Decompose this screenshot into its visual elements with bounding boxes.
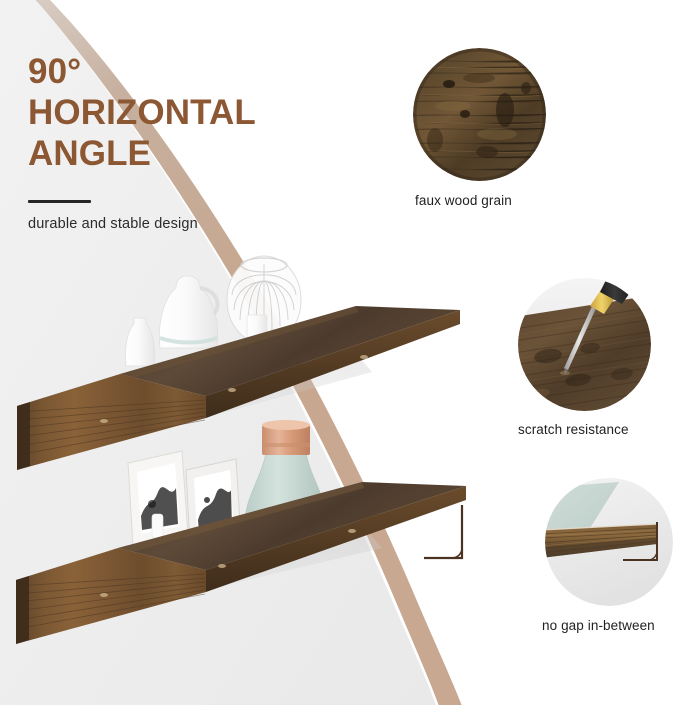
lower-shelf-left-end [16,576,29,644]
no-gap-image [545,478,673,606]
small-white-vase [125,318,154,366]
callout-faux-wood-grain: faux wood grain [413,48,546,208]
callout-1-caption: faux wood grain [415,193,546,208]
upper-shelf-left-end [17,402,30,470]
upper-shelf [17,256,460,470]
white-jug [159,276,217,348]
callout-scratch-resistance: scratch resistance [518,278,651,437]
faux-wood-grain-image [413,48,546,181]
callout-3-caption: no gap in-between [542,618,673,633]
callout-2-caption: scratch resistance [518,422,651,437]
lower-shelf [16,420,466,644]
right-angle-marker [424,505,462,558]
product-scene [0,0,480,705]
scratch-resistance-image [518,278,651,411]
infographic-canvas: 90° HORIZONTAL ANGLE durable and stable … [0,0,679,705]
callout-no-gap: no gap in-between [545,478,673,633]
